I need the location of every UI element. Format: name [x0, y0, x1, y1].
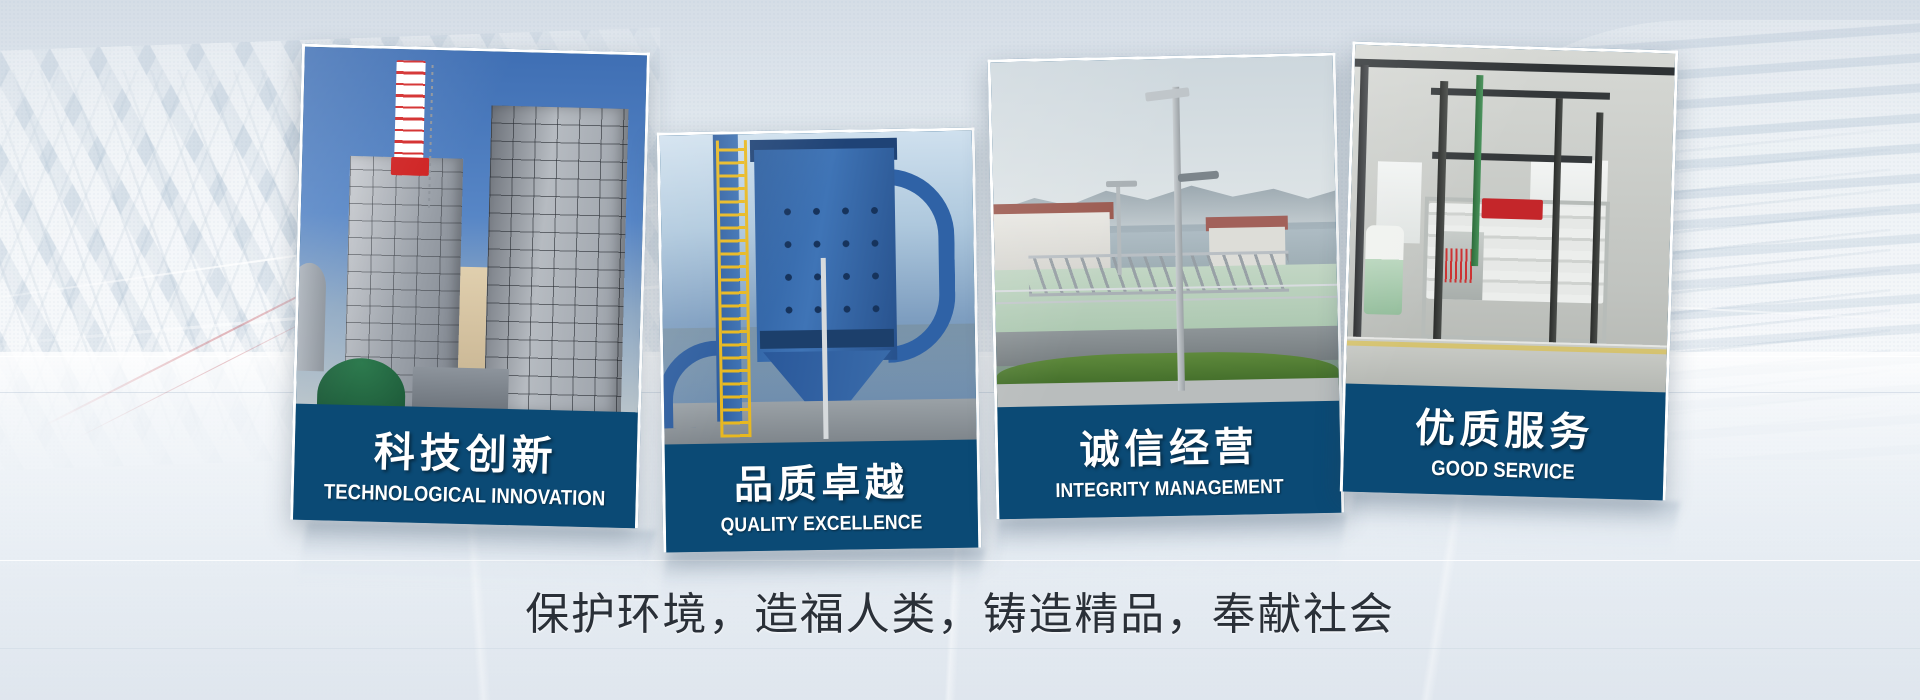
feature-panel-good-service[interactable]: 优质服务 GOOD SERVICE: [1340, 42, 1678, 501]
panel-caption: 诚信经营 INTEGRITY MANAGEMENT: [997, 401, 1341, 520]
panel-title-cn: 优质服务: [1414, 395, 1595, 458]
panel-title-en: GOOD SERVICE: [1431, 456, 1575, 484]
feature-panel-integrity-management[interactable]: 诚信经营 INTEGRITY MANAGEMENT: [988, 53, 1345, 520]
photo-chimney-base: [391, 157, 429, 176]
panel-photo-desulfurization-towers: [296, 47, 647, 416]
panel-caption: 优质服务 GOOD SERVICE: [1343, 383, 1666, 500]
panel-title-en: INTEGRITY MANAGEMENT: [1056, 475, 1285, 502]
panel-photo-dust-collector: [660, 131, 977, 448]
floor-line-tertiary: [0, 560, 1920, 561]
banner-tagline: 保护环境，造福人类，铸造精品，奉献社会: [0, 578, 1920, 642]
panel-caption: 科技创新 TECHNOLOGICAL INNOVATION: [293, 404, 638, 529]
panel-caption: 品质卓越 QUALITY EXCELLENCE: [665, 440, 979, 553]
feature-panel-technological-innovation[interactable]: 科技创新 TECHNOLOGICAL INNOVATION: [290, 44, 650, 529]
panel-title-en: TECHNOLOGICAL INNOVATION: [324, 480, 606, 511]
photo-chemical-tank: [1364, 225, 1405, 314]
panel-photo-wastewater-clarifier: [991, 56, 1340, 409]
photo-red-sign: [1482, 198, 1543, 220]
panel-title-cn: 科技创新: [373, 418, 558, 483]
panel-title-cn: 品质卓越: [733, 451, 909, 510]
photo-tank: [296, 263, 327, 372]
panel-title-cn: 诚信经营: [1079, 414, 1259, 475]
panel-title-en: QUALITY EXCELLENCE: [721, 511, 923, 537]
photo-grey-housing: [412, 366, 509, 412]
feature-panel-quality-excellence[interactable]: 品质卓越 QUALITY EXCELLENCE: [657, 128, 982, 553]
panel-photo-ro-water-system: [1346, 45, 1675, 394]
photo-yellow-ladder: [716, 140, 752, 437]
photo-lamp-arm-far: [1106, 181, 1137, 187]
floor-line-quaternary: [0, 648, 1920, 649]
hero-banner: 科技创新 TECHNOLOGICAL INNOVATION 品质卓越 QUALI…: [0, 0, 1920, 700]
